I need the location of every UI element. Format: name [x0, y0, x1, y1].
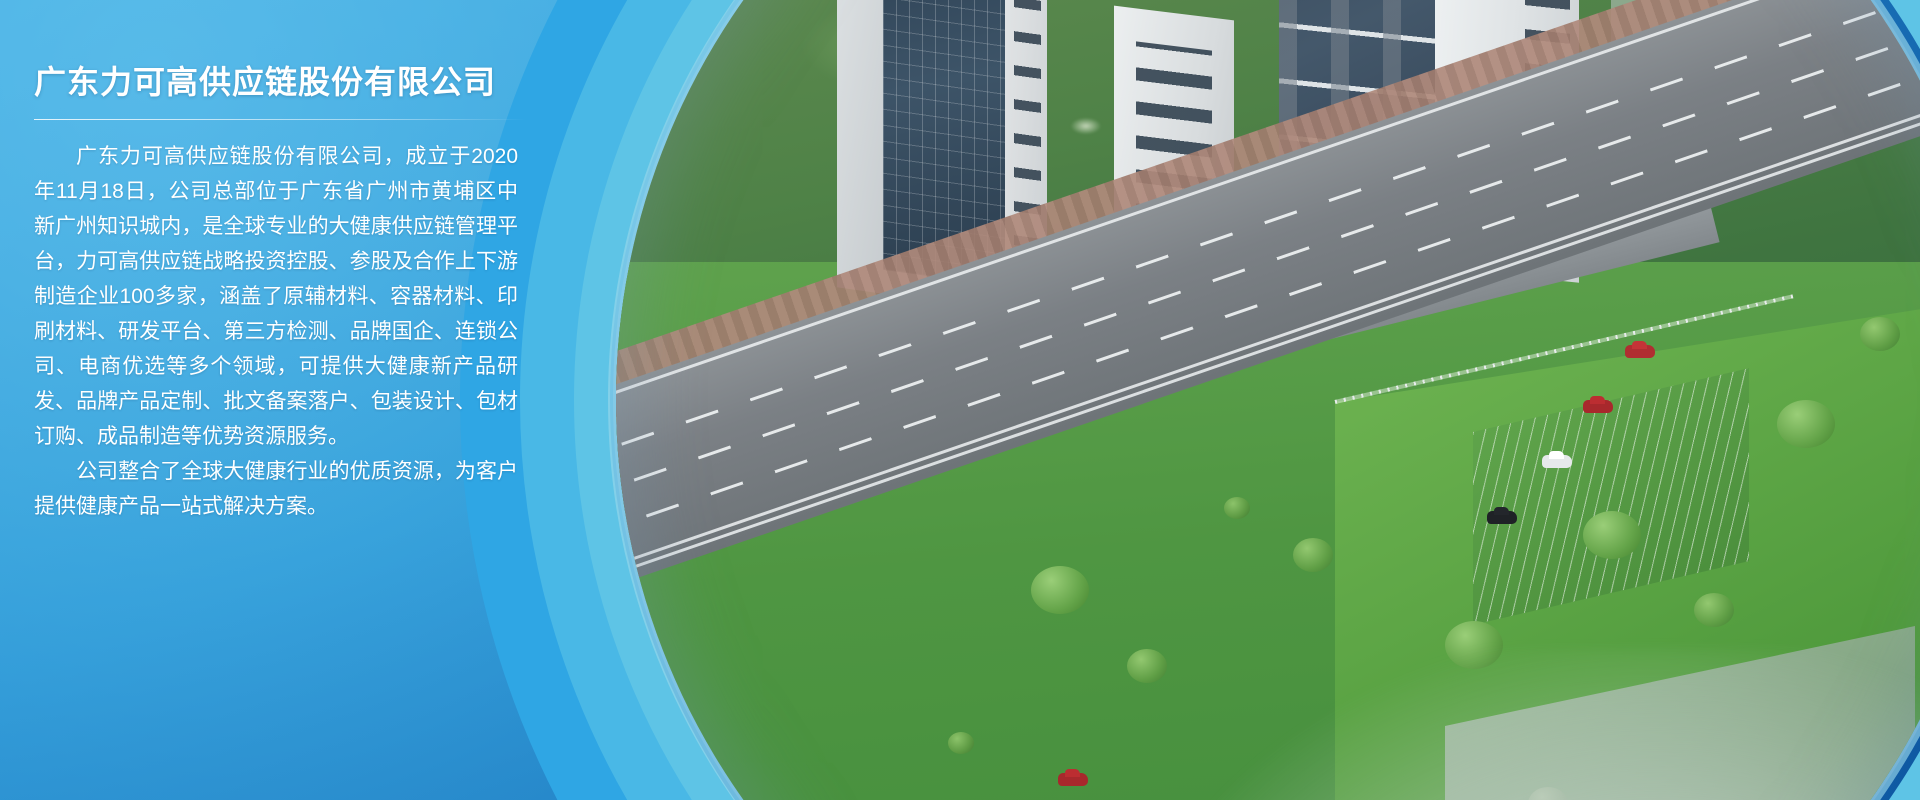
page-title: 广东力可高供应链股份有限公司 [34, 62, 526, 102]
tree [1583, 511, 1641, 559]
industrial-park-photo [616, 0, 1920, 800]
text-panel: 广东力可高供应链股份有限公司 广东力可高供应链股份有限公司，成立于2020年11… [0, 0, 560, 800]
tree [1031, 566, 1089, 614]
title-divider [34, 119, 526, 120]
tree [1860, 317, 1900, 351]
building-photo-disc [616, 0, 1920, 800]
car-white [1542, 455, 1572, 468]
tree [1777, 400, 1835, 448]
company-description: 广东力可高供应链股份有限公司，成立于2020年11月18日，公司总部位于广东省广… [34, 139, 518, 524]
company-profile-banner: 广东力可高供应链股份有限公司 广东力可高供应链股份有限公司，成立于2020年11… [0, 0, 1920, 800]
mist-overlay [1141, 649, 1920, 800]
car-red [1625, 345, 1655, 358]
car-black [1487, 511, 1517, 524]
car-red [1058, 773, 1088, 786]
car-red [1583, 400, 1613, 413]
tree [948, 732, 974, 754]
description-paragraph-2: 公司整合了全球大健康行业的优质资源，为客户提供健康产品一站式解决方案。 [34, 454, 518, 524]
tree [1224, 497, 1250, 519]
description-paragraph-1: 广东力可高供应链股份有限公司，成立于2020年11月18日，公司总部位于广东省广… [34, 139, 518, 454]
